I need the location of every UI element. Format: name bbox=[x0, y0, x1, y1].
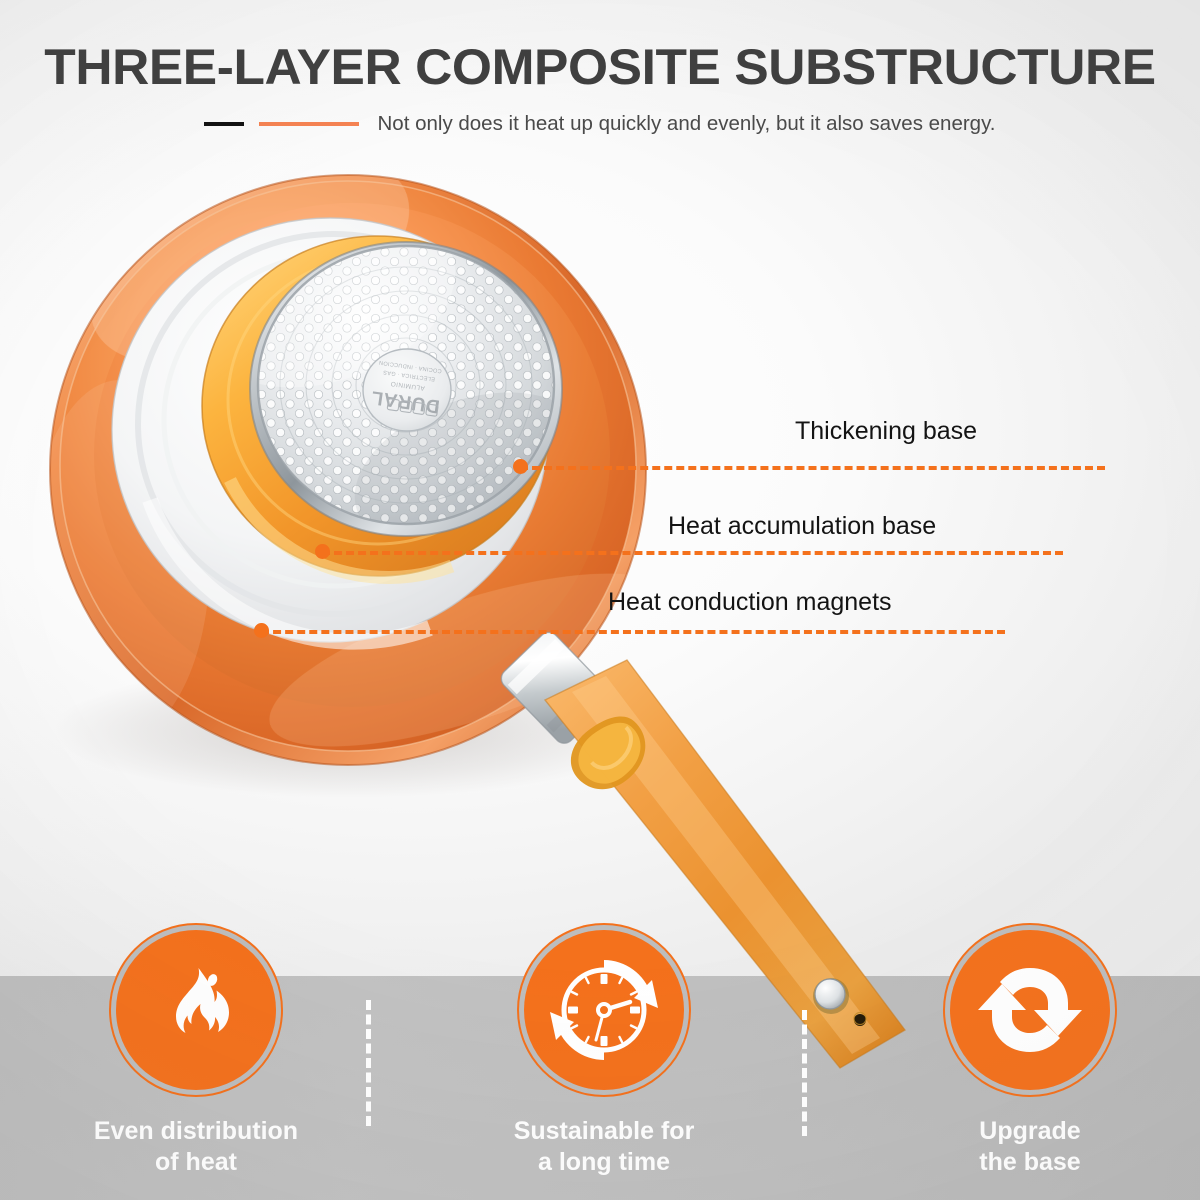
leader-dot-heat-accumulation-base bbox=[315, 544, 330, 559]
feature-separator-1 bbox=[366, 1000, 371, 1126]
leader-line-heat-accumulation-base bbox=[322, 551, 1063, 555]
refresh-icon bbox=[978, 958, 1082, 1062]
base-medallion: DURAL ALUMINIO ELECTRICA · GAS COCINA · … bbox=[363, 349, 451, 431]
feature-label: Sustainable for a long time bbox=[454, 1116, 754, 1177]
clock-icon bbox=[548, 954, 660, 1066]
flame-icon bbox=[148, 962, 244, 1058]
callout-label-heat-accumulation-base: Heat accumulation base bbox=[668, 512, 936, 541]
leader-dot-heat-conduction-magnets bbox=[254, 623, 269, 638]
feature-even-heat: Even distribution of heat bbox=[46, 930, 346, 1177]
feature-label: Upgrade the base bbox=[880, 1116, 1180, 1177]
feature-upgrade-base: Upgrade the base bbox=[880, 930, 1180, 1177]
feature-label-line2: of heat bbox=[46, 1147, 346, 1178]
leader-line-heat-conduction-magnets bbox=[261, 630, 1005, 634]
callout-label-thickening-base: Thickening base bbox=[795, 417, 977, 446]
feature-badge-circle bbox=[116, 930, 276, 1090]
feature-badge-circle bbox=[950, 930, 1110, 1090]
leader-dot-thickening-base bbox=[513, 459, 528, 474]
feature-label-line1: Even distribution bbox=[46, 1116, 346, 1147]
feature-separator-2 bbox=[802, 1010, 807, 1136]
infographic-page: THREE-LAYER COMPOSITE SUBSTRUCTURE Not o… bbox=[0, 0, 1200, 1200]
leader-line-thickening-base bbox=[520, 466, 1105, 470]
feature-label-line2: the base bbox=[880, 1147, 1180, 1178]
callout-label-heat-conduction-magnets: Heat conduction magnets bbox=[608, 588, 892, 617]
feature-label-line1: Sustainable for bbox=[454, 1116, 754, 1147]
feature-label-line2: a long time bbox=[454, 1147, 754, 1178]
feature-sustainable: Sustainable for a long time bbox=[454, 930, 754, 1177]
feature-badge-circle bbox=[524, 930, 684, 1090]
feature-label-line1: Upgrade bbox=[880, 1116, 1180, 1147]
handle-rivet bbox=[813, 978, 849, 1014]
feature-label: Even distribution of heat bbox=[46, 1116, 346, 1177]
